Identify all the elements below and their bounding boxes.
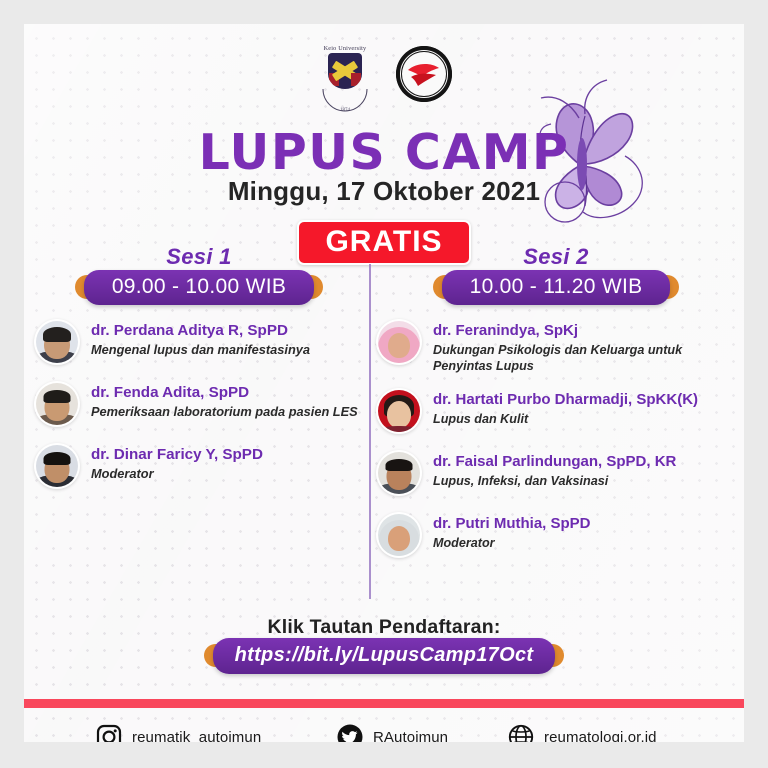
avatar bbox=[376, 512, 422, 558]
session-column-2: Sesi 2 10.00 - 11.20 WIB dr. Feranindya,… bbox=[376, 244, 736, 570]
speaker-name: dr. Perdana Aditya R, SpPD bbox=[91, 322, 310, 340]
speaker-name: dr. Hartati Purbo Dharmadji, SpKK(K) bbox=[433, 391, 698, 409]
list-item: dr. Perdana Aditya R, SpPD Mengenal lupu… bbox=[34, 319, 364, 365]
speaker-name: dr. Faisal Parlindungan, SpPD, KR bbox=[433, 453, 676, 471]
speaker-topic: Pemeriksaan laboratorium pada pasien LES bbox=[91, 404, 358, 420]
list-item: dr. Hartati Purbo Dharmadji, SpKK(K) Lup… bbox=[376, 388, 736, 434]
speaker-name: dr. Feranindya, SpKj bbox=[433, 322, 736, 340]
social-website[interactable]: reumatologi.or.id bbox=[508, 724, 657, 742]
speaker-name: dr. Fenda Adita, SpPD bbox=[91, 384, 358, 402]
list-item: dr. Putri Muthia, SpPD Moderator bbox=[376, 512, 736, 558]
avatar bbox=[34, 381, 80, 427]
session-2-time: 10.00 - 11.20 WIB bbox=[442, 270, 671, 305]
registration-link-pill[interactable]: https://bit.ly/LupusCamp17Oct bbox=[213, 644, 556, 667]
ira-logo bbox=[396, 46, 452, 102]
list-item: dr. Feranindya, SpKj Dukungan Psikologis… bbox=[376, 319, 736, 374]
avatar bbox=[34, 443, 80, 489]
registration-link[interactable]: https://bit.ly/LupusCamp17Oct bbox=[213, 638, 556, 674]
social-instagram[interactable]: reumatik_autoimun bbox=[96, 724, 261, 742]
page-title: LUPUS CAMP bbox=[24, 124, 744, 181]
avatar bbox=[34, 319, 80, 365]
session-1-speaker-list: dr. Perdana Aditya R, SpPD Mengenal lupu… bbox=[34, 319, 364, 489]
session-2-time-pill: 10.00 - 11.20 WIB bbox=[442, 275, 671, 299]
list-item: dr. Dinar Faricy Y, SpPD Moderator bbox=[34, 443, 364, 489]
speaker-name: dr. Putri Muthia, SpPD bbox=[433, 515, 591, 533]
ira-emblem-icon bbox=[396, 46, 452, 102]
list-item: dr. Fenda Adita, SpPD Pemeriksaan labora… bbox=[34, 381, 364, 427]
session-column-1: Sesi 1 09.00 - 10.00 WIB dr. Perdana Adi… bbox=[34, 244, 364, 501]
social-twitter[interactable]: RAutoimun bbox=[337, 724, 448, 742]
session-divider bbox=[369, 264, 371, 599]
speaker-topic: Lupus, Infeksi, dan Vaksinasi bbox=[433, 473, 676, 489]
event-date: Minggu, 17 Oktober 2021 bbox=[24, 176, 744, 207]
session-1-label: Sesi 1 bbox=[34, 244, 364, 270]
keio-arc-text-icon: 1874 bbox=[319, 67, 371, 113]
session-1-time-pill: 09.00 - 10.00 WIB bbox=[84, 275, 314, 299]
footer-social-bar: reumatik_autoimun RAutoimun reumatologi.… bbox=[24, 716, 744, 742]
speaker-name: dr. Dinar Faricy Y, SpPD bbox=[91, 446, 263, 464]
keio-logo-caption: Keio University bbox=[324, 45, 367, 52]
speaker-topic: Dukungan Psikologis dan Keluarga untuk P… bbox=[433, 342, 736, 374]
cta-wrapper: https://bit.ly/LupusCamp17Oct bbox=[24, 644, 744, 667]
session-2-label: Sesi 2 bbox=[376, 244, 736, 270]
svg-text:1874: 1874 bbox=[340, 108, 351, 113]
avatar bbox=[376, 450, 422, 496]
session-2-speaker-list: dr. Feranindya, SpKj Dukungan Psikologis… bbox=[376, 319, 736, 558]
poster-card: Keio University 1874 bbox=[24, 24, 744, 742]
session-1-time: 09.00 - 10.00 WIB bbox=[84, 270, 314, 305]
speaker-topic: Lupus dan Kulit bbox=[433, 411, 698, 427]
website-url: reumatologi.or.id bbox=[544, 729, 657, 743]
twitter-handle: RAutoimun bbox=[373, 729, 448, 743]
keio-university-logo: Keio University 1874 bbox=[316, 45, 374, 103]
footer-red-bar bbox=[24, 699, 744, 708]
speaker-topic: Mengenal lupus dan manifestasinya bbox=[91, 342, 310, 358]
speaker-topic: Moderator bbox=[91, 466, 263, 482]
avatar bbox=[376, 319, 422, 365]
avatar bbox=[376, 388, 422, 434]
list-item: dr. Faisal Parlindungan, SpPD, KR Lupus,… bbox=[376, 450, 736, 496]
globe-icon bbox=[508, 724, 534, 742]
instagram-icon bbox=[96, 724, 122, 742]
instagram-handle: reumatik_autoimun bbox=[132, 729, 261, 743]
speaker-topic: Moderator bbox=[433, 535, 591, 551]
cta-label: Klik Tautan Pendaftaran: bbox=[24, 616, 744, 639]
twitter-icon bbox=[337, 724, 363, 742]
